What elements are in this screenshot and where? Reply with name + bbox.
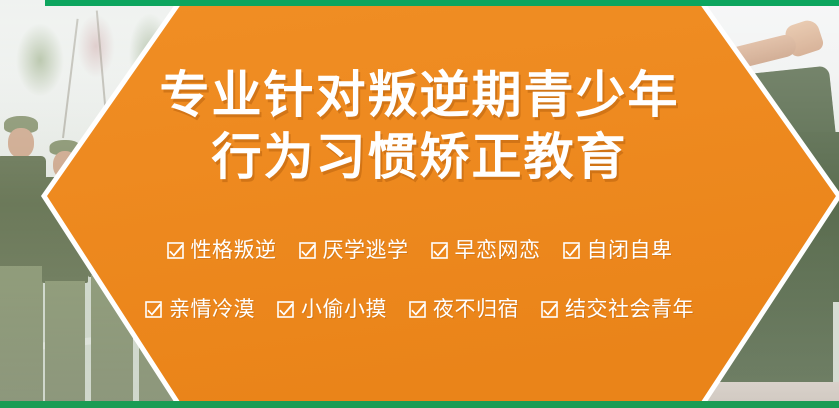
tag-item[interactable]: 厌学逃学: [299, 240, 409, 261]
tag-item[interactable]: 自闭自卑: [563, 240, 673, 261]
check-square-icon: [541, 301, 558, 318]
tag-label: 性格叛逆: [191, 240, 277, 261]
check-square-icon: [563, 242, 580, 259]
tag-item[interactable]: 早恋网恋: [431, 240, 541, 261]
tag-item[interactable]: 夜不归宿: [409, 299, 519, 320]
tag-row: 亲情冷漠 小偷小摸 夜不归宿: [0, 299, 839, 320]
check-square-icon: [277, 301, 294, 318]
headline-line-2: 行为习惯矫正教育: [0, 126, 839, 188]
tag-item[interactable]: 亲情冷漠: [145, 299, 255, 320]
tag-label: 结交社会青年: [565, 299, 694, 320]
headline: 专业针对叛逆期青少年 行为习惯矫正教育: [0, 64, 839, 188]
tag-list: 性格叛逆 厌学逃学 早恋网恋: [0, 240, 839, 342]
check-square-icon: [167, 242, 184, 259]
tag-label: 厌学逃学: [323, 240, 409, 261]
check-square-icon: [299, 242, 316, 259]
check-square-icon: [145, 301, 162, 318]
tag-row: 性格叛逆 厌学逃学 早恋网恋: [0, 240, 839, 261]
tag-item[interactable]: 性格叛逆: [167, 240, 277, 261]
tag-label: 小偷小摸: [301, 299, 387, 320]
tag-label: 夜不归宿: [433, 299, 519, 320]
headline-line-1: 专业针对叛逆期青少年: [0, 64, 839, 126]
banner-content: 专业针对叛逆期青少年 行为习惯矫正教育 性格叛逆 厌学逃学: [0, 0, 839, 408]
tag-item[interactable]: 小偷小摸: [277, 299, 387, 320]
tag-label: 自闭自卑: [587, 240, 673, 261]
tag-item[interactable]: 结交社会青年: [541, 299, 694, 320]
tag-label: 亲情冷漠: [169, 299, 255, 320]
check-square-icon: [409, 301, 426, 318]
tag-label: 早恋网恋: [455, 240, 541, 261]
promo-banner: 专业针对叛逆期青少年 行为习惯矫正教育 性格叛逆 厌学逃学: [0, 0, 839, 408]
check-square-icon: [431, 242, 448, 259]
